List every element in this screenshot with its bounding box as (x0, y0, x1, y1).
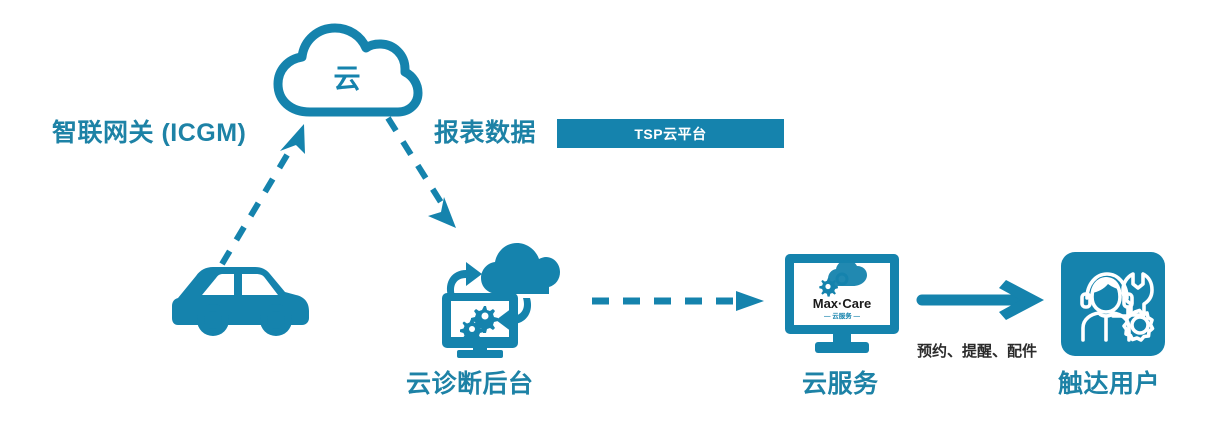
maxcare-logo-subtext: — 云服务 — (824, 311, 861, 320)
cloud-icon: 云 (272, 24, 422, 119)
maxcare-logo-text: Max·Care (813, 296, 872, 311)
cloud-service-icon: Max·Care — 云服务 — (783, 252, 901, 356)
car-icon (166, 258, 314, 336)
tsp-platform-banner: TSP云平台 (557, 119, 784, 148)
tsp-platform-banner-text: TSP云平台 (634, 124, 706, 144)
label-cloud-service: 云服务 (802, 364, 879, 400)
reach-user-icon (1061, 252, 1165, 356)
label-reach-user: 触达用户 (1058, 364, 1160, 400)
caption-service-to-user: 预约、提醒、配件 (917, 340, 1037, 361)
cloud-diagnostics-icon (432, 236, 568, 358)
arrow-service-to-user (920, 278, 1055, 322)
arrow-car-to-cloud (212, 118, 322, 268)
label-report-data: 报表数据 (434, 113, 536, 149)
diagram-canvas: 云 智联网关 (ICGM) 报表数据 TSP云平台 (0, 0, 1220, 437)
label-cloud-diagnostics: 云诊断后台 (406, 364, 534, 400)
arrow-diagnostics-to-service (592, 288, 772, 314)
cloud-glyph-label: 云 (334, 57, 361, 96)
